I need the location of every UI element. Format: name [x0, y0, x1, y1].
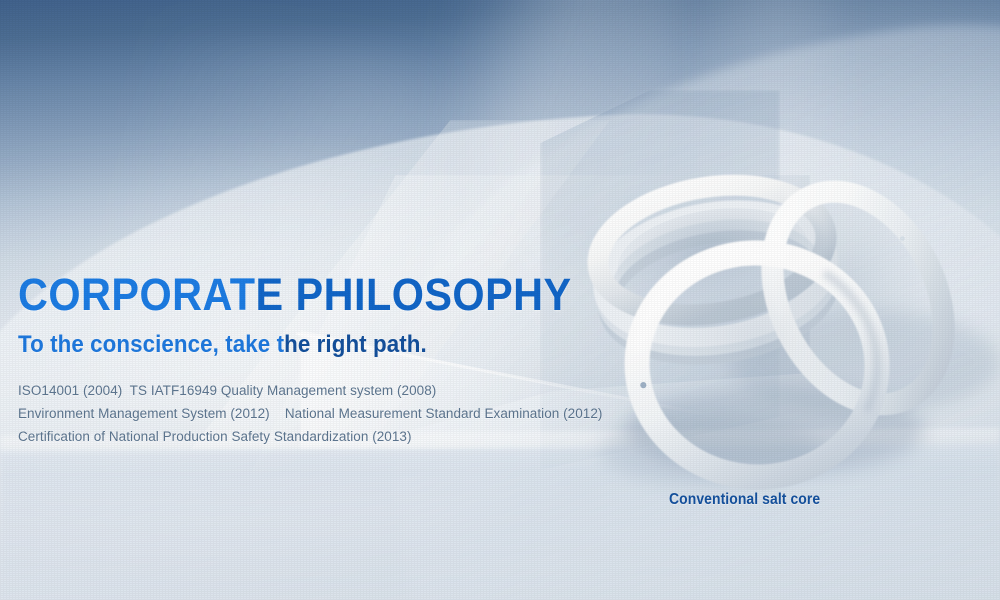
page-title-part-one: CORPORAT [18, 269, 256, 320]
salt-core-rings-image [560, 130, 1000, 500]
product-caption: Conventional salt core [669, 491, 820, 509]
page-subtitle-part-two: he right path. [284, 331, 427, 358]
page-title-part-two: E PHILOSOPHY [256, 269, 572, 320]
certification-list: ISO14001 (2004) TS IATF16949 Quality Man… [18, 379, 618, 448]
certification-line: Environment Management System (2012) Nat… [18, 402, 618, 425]
certification-line: Certification of National Production Saf… [18, 425, 618, 448]
certification-line: ISO14001 (2004) TS IATF16949 Quality Man… [18, 379, 618, 402]
corporate-philosophy-banner: CORPORATE PHILOSOPHY To the conscience, … [0, 0, 1000, 600]
page-subtitle-part-one: To the conscience, take t [18, 331, 284, 358]
page-subtitle: To the conscience, take the right path. [18, 331, 576, 359]
page-title: CORPORATE PHILOSOPHY [18, 272, 570, 318]
text-block: CORPORATE PHILOSOPHY To the conscience, … [18, 272, 618, 448]
